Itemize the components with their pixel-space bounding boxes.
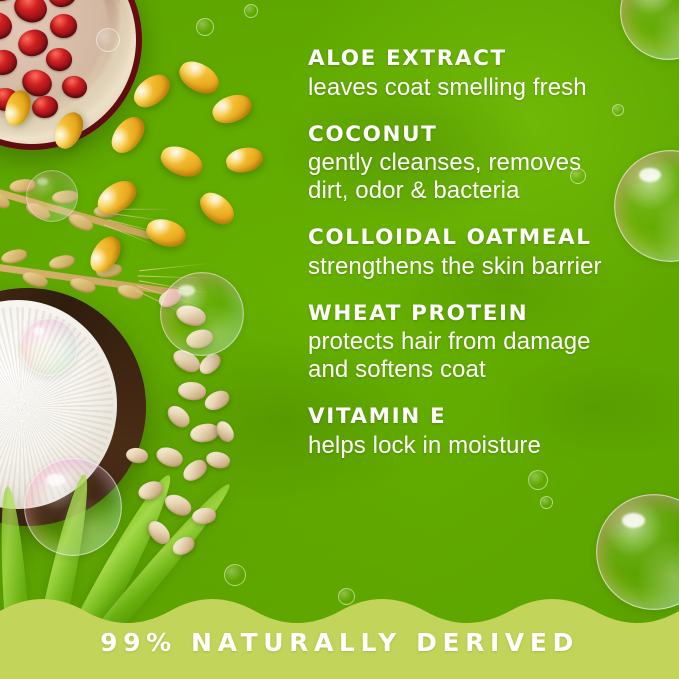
ingredient-description: leaves coat smelling fresh	[308, 74, 668, 102]
soap-bubble-icon	[540, 496, 553, 509]
ingredient-description: protects hair from damage and softens co…	[308, 328, 668, 384]
ingredient-name: VITAMIN E	[308, 406, 668, 429]
oat-flake-icon	[191, 507, 217, 525]
soap-bubble-icon	[196, 18, 214, 36]
description-line: helps lock in moisture	[308, 432, 668, 460]
ingredient-description: gently cleanses, removes dirt, odor & ba…	[308, 149, 668, 205]
banner-claim-text: 99% NATURALLY DERIVED	[0, 628, 679, 657]
description-line: protects hair from damage	[308, 328, 668, 356]
description-line: dirt, odor & bacteria	[308, 177, 668, 205]
description-line: strengthens the skin barrier	[308, 253, 668, 281]
description-line: leaves coat smelling fresh	[308, 74, 668, 102]
soap-bubble-icon	[96, 28, 120, 52]
oat-flake-icon	[204, 449, 231, 470]
ingredient-description: strengthens the skin barrier	[308, 253, 668, 281]
ingredient-item-coconut: COCONUT gently cleanses, removes dirt, o…	[308, 124, 668, 205]
ingredient-description: helps lock in moisture	[308, 432, 668, 460]
ingredient-name: COLLOIDAL OATMEAL	[308, 227, 668, 250]
ingredient-infographic: ALOE EXTRACT leaves coat smelling fresh …	[0, 0, 679, 679]
vitamin-e-capsule-icon	[174, 55, 224, 99]
vitamin-e-capsule-icon	[224, 144, 265, 175]
ingredient-name: ALOE EXTRACT	[308, 48, 668, 71]
oat-flake-icon	[202, 387, 233, 413]
soap-bubble-icon	[528, 470, 548, 490]
oat-flake-icon	[164, 402, 194, 432]
oat-flake-icon	[177, 380, 207, 402]
vitamin-e-capsule-icon	[157, 141, 207, 182]
ingredient-list: ALOE EXTRACT leaves coat smelling fresh …	[308, 48, 668, 460]
soap-bubble-icon	[24, 458, 122, 556]
ingredient-item-colloidal-oatmeal: COLLOIDAL OATMEAL strengthens the skin b…	[308, 227, 668, 281]
oat-flake-icon	[154, 444, 186, 471]
description-line: gently cleanses, removes	[308, 149, 668, 177]
soap-bubble-icon	[160, 272, 244, 356]
vitamin-e-capsule-icon	[194, 187, 239, 231]
vitamin-e-capsule-icon	[209, 90, 255, 128]
ingredient-item-aloe-extract: ALOE EXTRACT leaves coat smelling fresh	[308, 48, 668, 102]
ingredient-item-wheat-protein: WHEAT PROTEIN protects hair from damage …	[308, 303, 668, 384]
description-line: and softens coat	[308, 356, 668, 384]
naturally-derived-banner: 99% NATURALLY DERIVED	[0, 591, 679, 679]
ingredient-name: COCONUT	[308, 124, 668, 147]
oat-flake-icon	[213, 418, 237, 444]
soap-bubble-icon	[244, 4, 258, 18]
ingredient-name: WHEAT PROTEIN	[308, 303, 668, 326]
vitamin-e-capsule-icon	[105, 111, 150, 159]
soap-bubble-icon	[26, 170, 78, 222]
soap-bubble-icon	[224, 564, 246, 586]
ingredient-item-vitamin-e: VITAMIN E helps lock in moisture	[308, 406, 668, 460]
soap-bubble-icon	[20, 318, 78, 376]
